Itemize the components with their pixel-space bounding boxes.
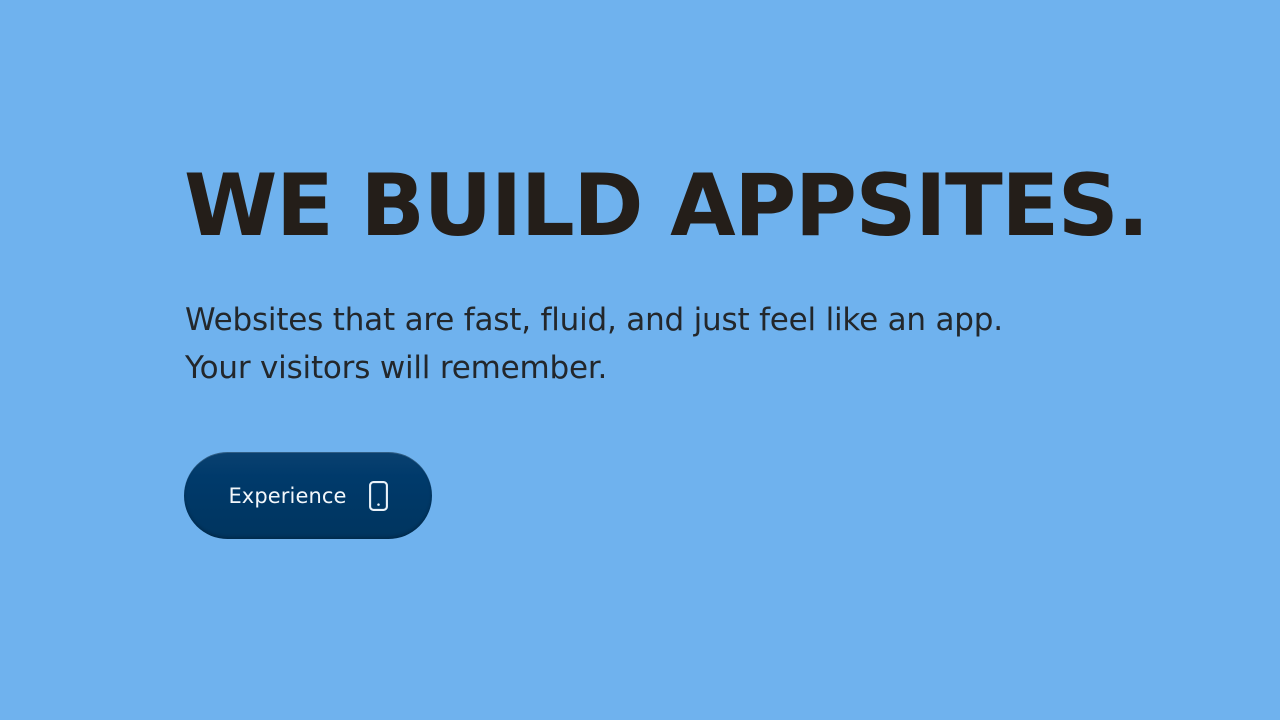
hero-section: WE BUILD APPSITES. Websites that are fas…	[184, 0, 1184, 720]
experience-button[interactable]: Experience	[184, 452, 432, 539]
hero-subtitle-line: Your visitors will remember.	[185, 344, 1003, 392]
hero-subtitle: Websites that are fast, fluid, and just …	[185, 296, 1003, 392]
experience-button-label: Experience	[228, 484, 346, 508]
page-title: WE BUILD APPSITES.	[184, 158, 1148, 254]
smartphone-icon	[369, 481, 388, 511]
hero-subtitle-line: Websites that are fast, fluid, and just …	[185, 296, 1003, 344]
